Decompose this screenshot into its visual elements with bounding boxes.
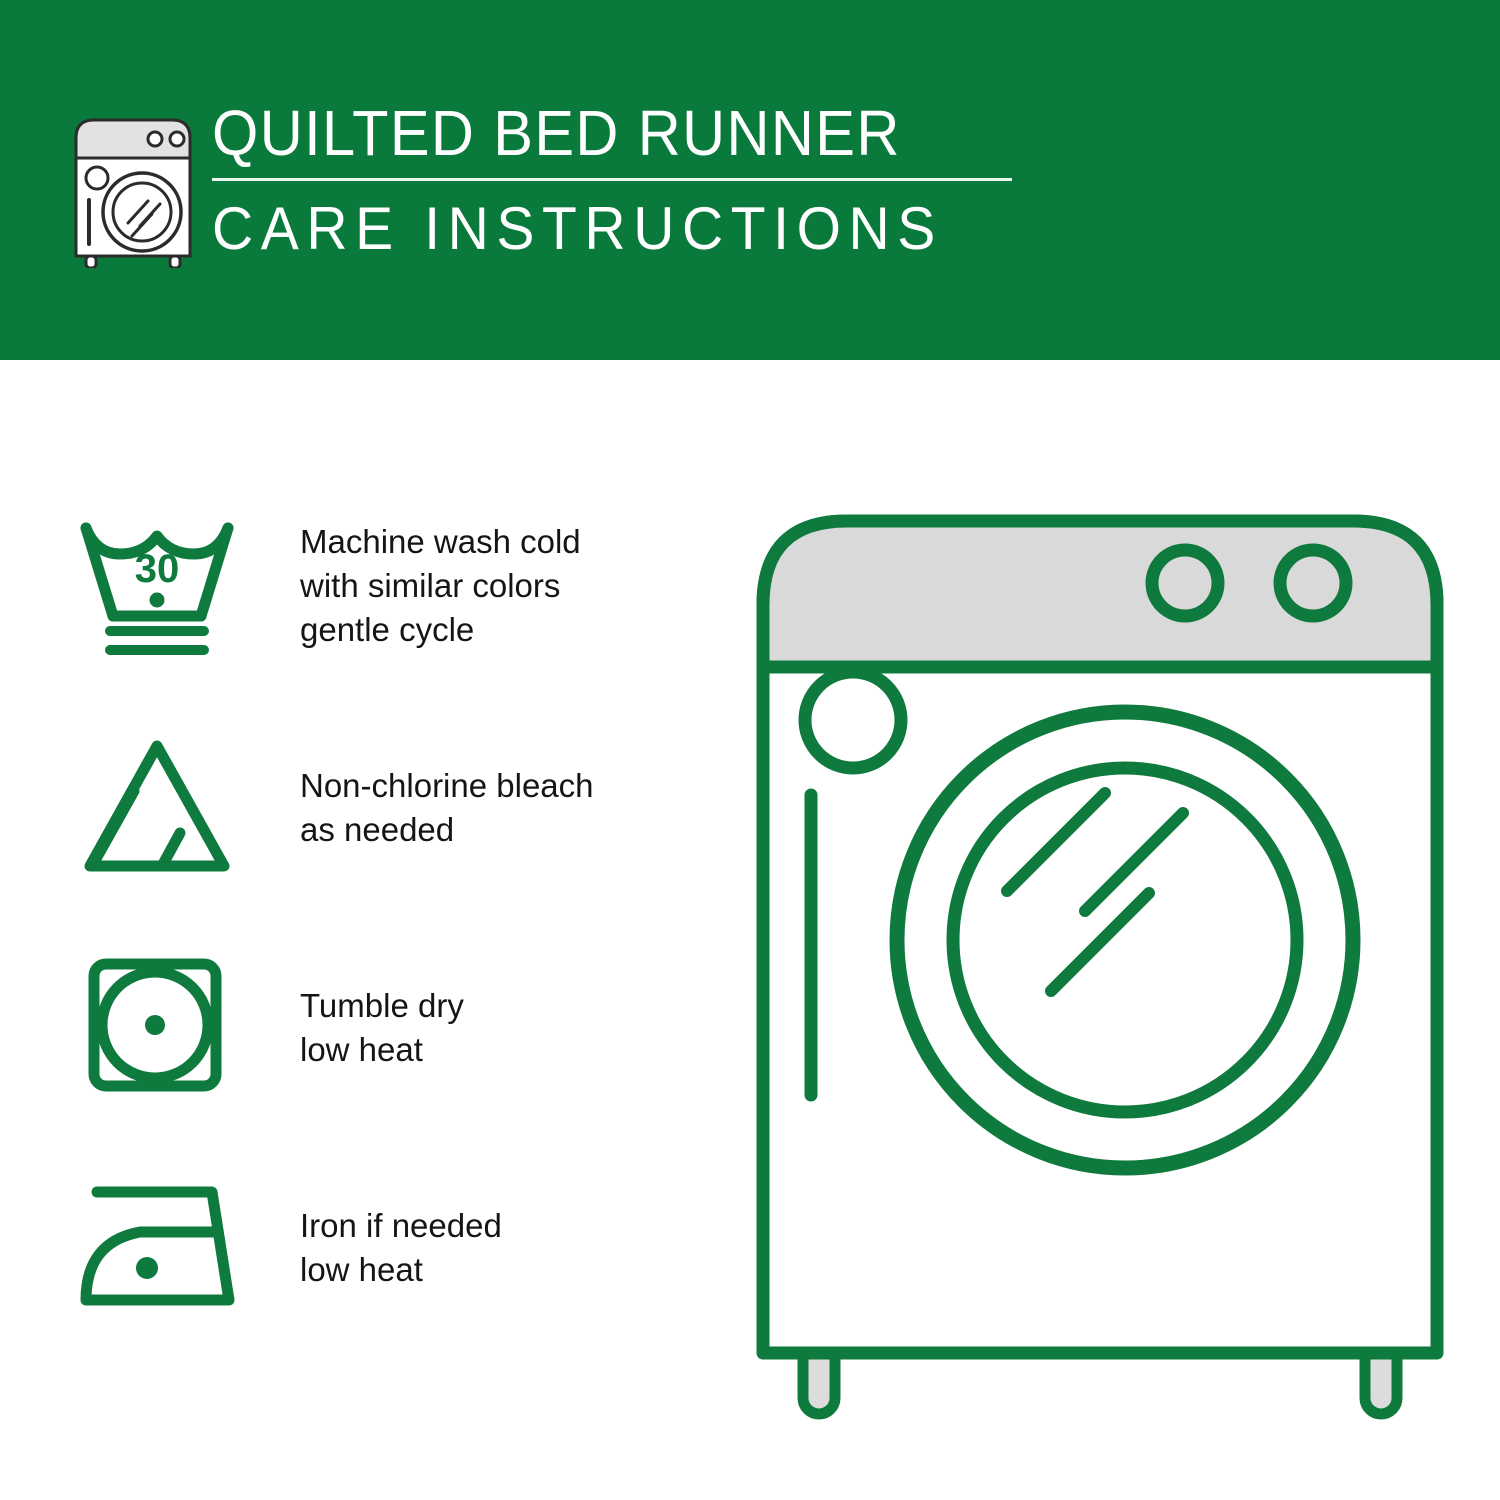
- machine-wash-30-gentle-icon: 30: [72, 510, 242, 660]
- leg-right: [1365, 1350, 1397, 1414]
- leg-left: [803, 1350, 835, 1414]
- care-instructions-page: QUILTED BED RUNNER CARE INSTRUCTIONS: [0, 0, 1500, 1500]
- care-row-tumble-dry: Tumble dry low heat: [0, 940, 700, 1160]
- care-instructions-list: 30 Machine wash cold with similar colors…: [0, 500, 700, 1380]
- washing-machine-icon: [62, 108, 204, 268]
- page-title: QUILTED BED RUNNER: [212, 96, 965, 170]
- iron-low-heat-icon: [72, 1170, 242, 1320]
- care-row-machine-wash: 30 Machine wash cold with similar colors…: [0, 500, 700, 720]
- care-label-iron: Iron if needed low heat: [300, 1204, 502, 1292]
- header-banner: QUILTED BED RUNNER CARE INSTRUCTIONS: [0, 0, 1500, 360]
- care-label-bleach: Non-chlorine bleach as needed: [300, 764, 594, 852]
- non-chlorine-bleach-icon: [72, 730, 242, 880]
- header-divider: [212, 178, 1012, 181]
- washing-machine-illustration: [735, 495, 1465, 1420]
- wash-temperature-value: 30: [135, 547, 180, 591]
- care-row-bleach: Non-chlorine bleach as needed: [0, 720, 700, 940]
- care-label-machine-wash: Machine wash cold with similar colors ge…: [300, 520, 581, 652]
- care-label-tumble-dry: Tumble dry low heat: [300, 984, 464, 1072]
- header-text-block: QUILTED BED RUNNER CARE INSTRUCTIONS: [212, 96, 1022, 263]
- tumble-dry-low-icon: [72, 950, 242, 1100]
- page-subtitle: CARE INSTRUCTIONS: [212, 195, 982, 263]
- care-row-iron: Iron if needed low heat: [0, 1160, 700, 1380]
